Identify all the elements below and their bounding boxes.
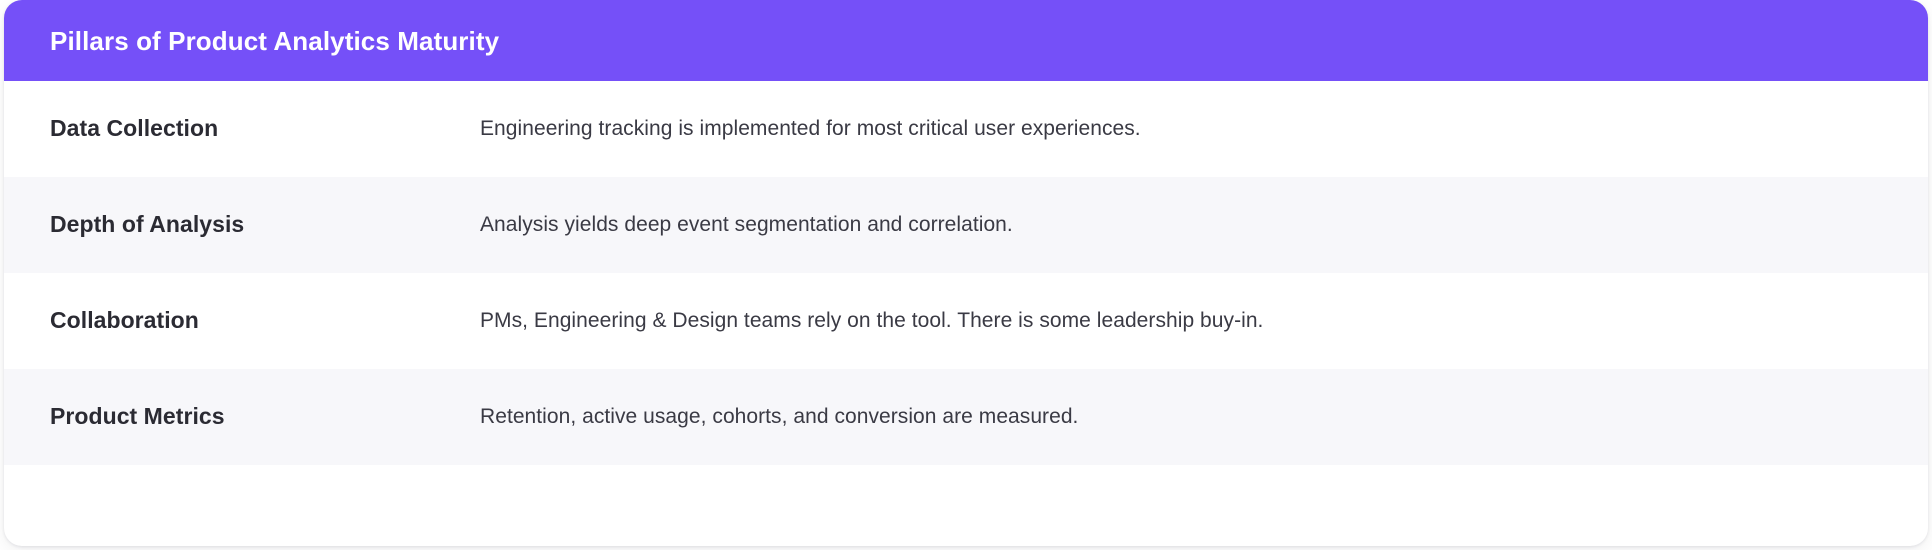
pillars-table: Data Collection Engineering tracking is … [4, 81, 1928, 465]
page-root: Pillars of Product Analytics Maturity Da… [0, 0, 1932, 550]
pillar-label: Depth of Analysis [50, 211, 480, 239]
pillars-card: Pillars of Product Analytics Maturity Da… [4, 0, 1928, 546]
pillar-description: Analysis yields deep event segmentation … [480, 211, 1888, 238]
pillar-label: Collaboration [50, 307, 480, 335]
table-row: Depth of Analysis Analysis yields deep e… [4, 177, 1928, 273]
table-row: Collaboration PMs, Engineering & Design … [4, 273, 1928, 369]
pillar-description: PMs, Engineering & Design teams rely on … [480, 307, 1888, 334]
pillar-label: Data Collection [50, 115, 480, 143]
table-row: Product Metrics Retention, active usage,… [4, 369, 1928, 465]
pillar-description: Retention, active usage, cohorts, and co… [480, 403, 1888, 430]
pillar-description: Engineering tracking is implemented for … [480, 115, 1888, 142]
table-row: Data Collection Engineering tracking is … [4, 81, 1928, 177]
card-header: Pillars of Product Analytics Maturity [4, 0, 1928, 81]
page-title: Pillars of Product Analytics Maturity [50, 28, 499, 54]
pillar-label: Product Metrics [50, 403, 480, 431]
